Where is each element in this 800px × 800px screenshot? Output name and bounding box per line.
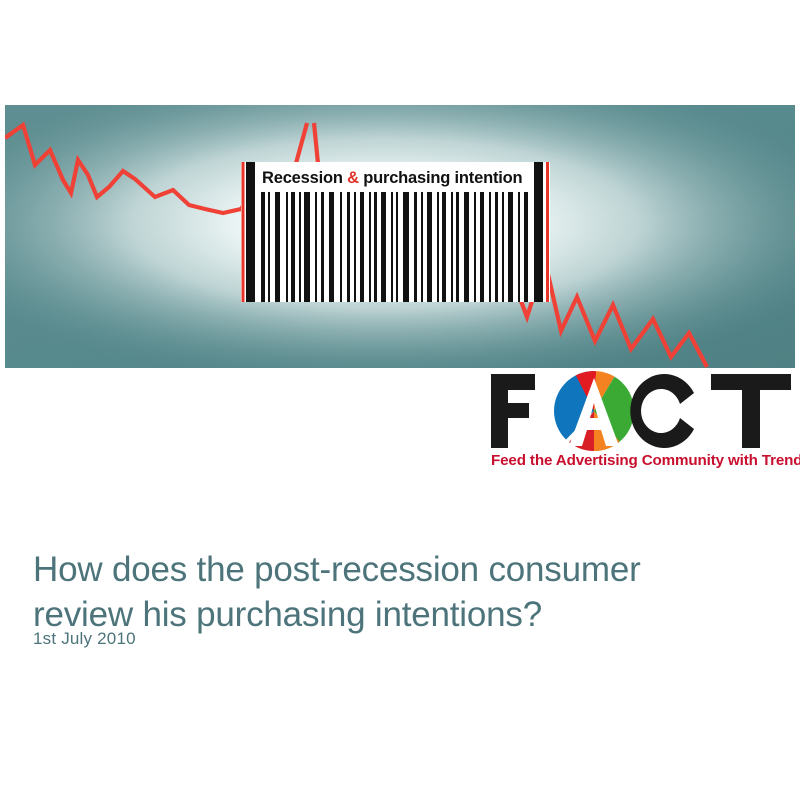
slide-root: Recession & purchasing intention <box>0 0 800 800</box>
logo-letter-c <box>630 374 694 448</box>
page-title-line-2: review his purchasing intentions? <box>33 592 763 637</box>
fact-logo: Feed the Advertising Community with Tren… <box>489 370 795 478</box>
barcode-caption-part2: purchasing intention <box>359 169 523 187</box>
logo-letter-f <box>491 374 535 448</box>
logo-letter-t <box>711 374 791 448</box>
barcode-caption: Recession & purchasing intention <box>262 166 542 190</box>
presentation-date: 1st July 2010 <box>33 629 136 649</box>
fact-logo-tagline: Feed the Advertising Community with Tren… <box>491 452 795 469</box>
barcode-edge-line-right <box>546 162 549 302</box>
barcode-caption-part1: Recession <box>262 169 347 187</box>
barcode-caption-ampersand: & <box>347 169 359 187</box>
barcode-edge-line-left <box>242 162 245 302</box>
page-title: How does the post-recession consumer rev… <box>33 547 763 637</box>
page-title-line-1: How does the post-recession consumer <box>33 547 763 592</box>
fact-logo-mark <box>489 370 795 452</box>
